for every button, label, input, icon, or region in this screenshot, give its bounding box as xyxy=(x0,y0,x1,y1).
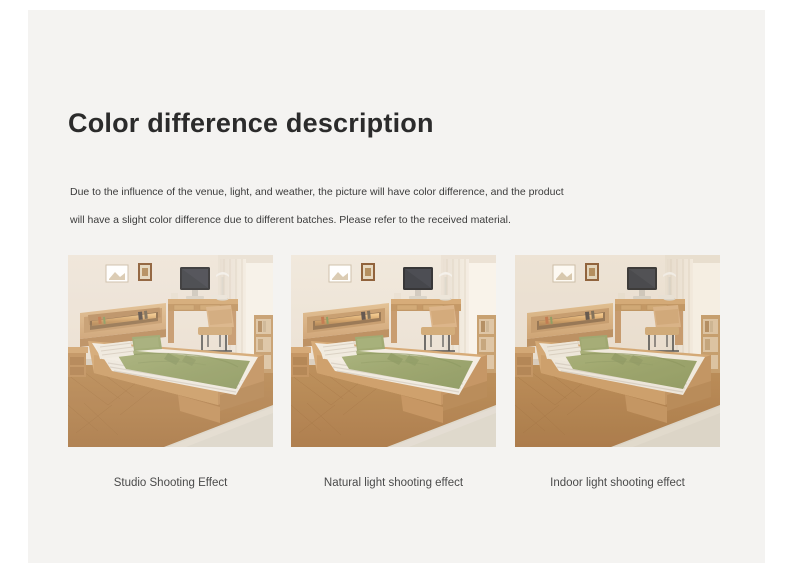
page-title: Color difference description xyxy=(68,108,434,139)
caption-studio: Studio Shooting Effect xyxy=(68,477,273,489)
gallery-item-studio: Studio Shooting Effect xyxy=(68,255,273,447)
bedroom-scene-illustration xyxy=(291,255,496,447)
content-panel: Color difference description Due to the … xyxy=(28,10,765,563)
bedroom-scene-illustration xyxy=(68,255,273,447)
caption-natural-light: Natural light shooting effect xyxy=(291,477,496,489)
studio-shooting-photo xyxy=(68,255,273,447)
gallery-item-natural-light: Natural light shooting effect xyxy=(291,255,496,447)
indoor-light-shooting-photo xyxy=(515,255,720,447)
caption-indoor-light: Indoor light shooting effect xyxy=(515,477,720,489)
gallery-item-indoor-light: Indoor light shooting effect xyxy=(515,255,720,447)
description-line-1: Due to the influence of the venue, light… xyxy=(70,178,690,206)
natural-light-shooting-photo xyxy=(291,255,496,447)
description-paragraph: Due to the influence of the venue, light… xyxy=(70,178,690,234)
bedroom-scene-illustration xyxy=(515,255,720,447)
description-line-2: will have a slight color difference due … xyxy=(70,206,690,234)
